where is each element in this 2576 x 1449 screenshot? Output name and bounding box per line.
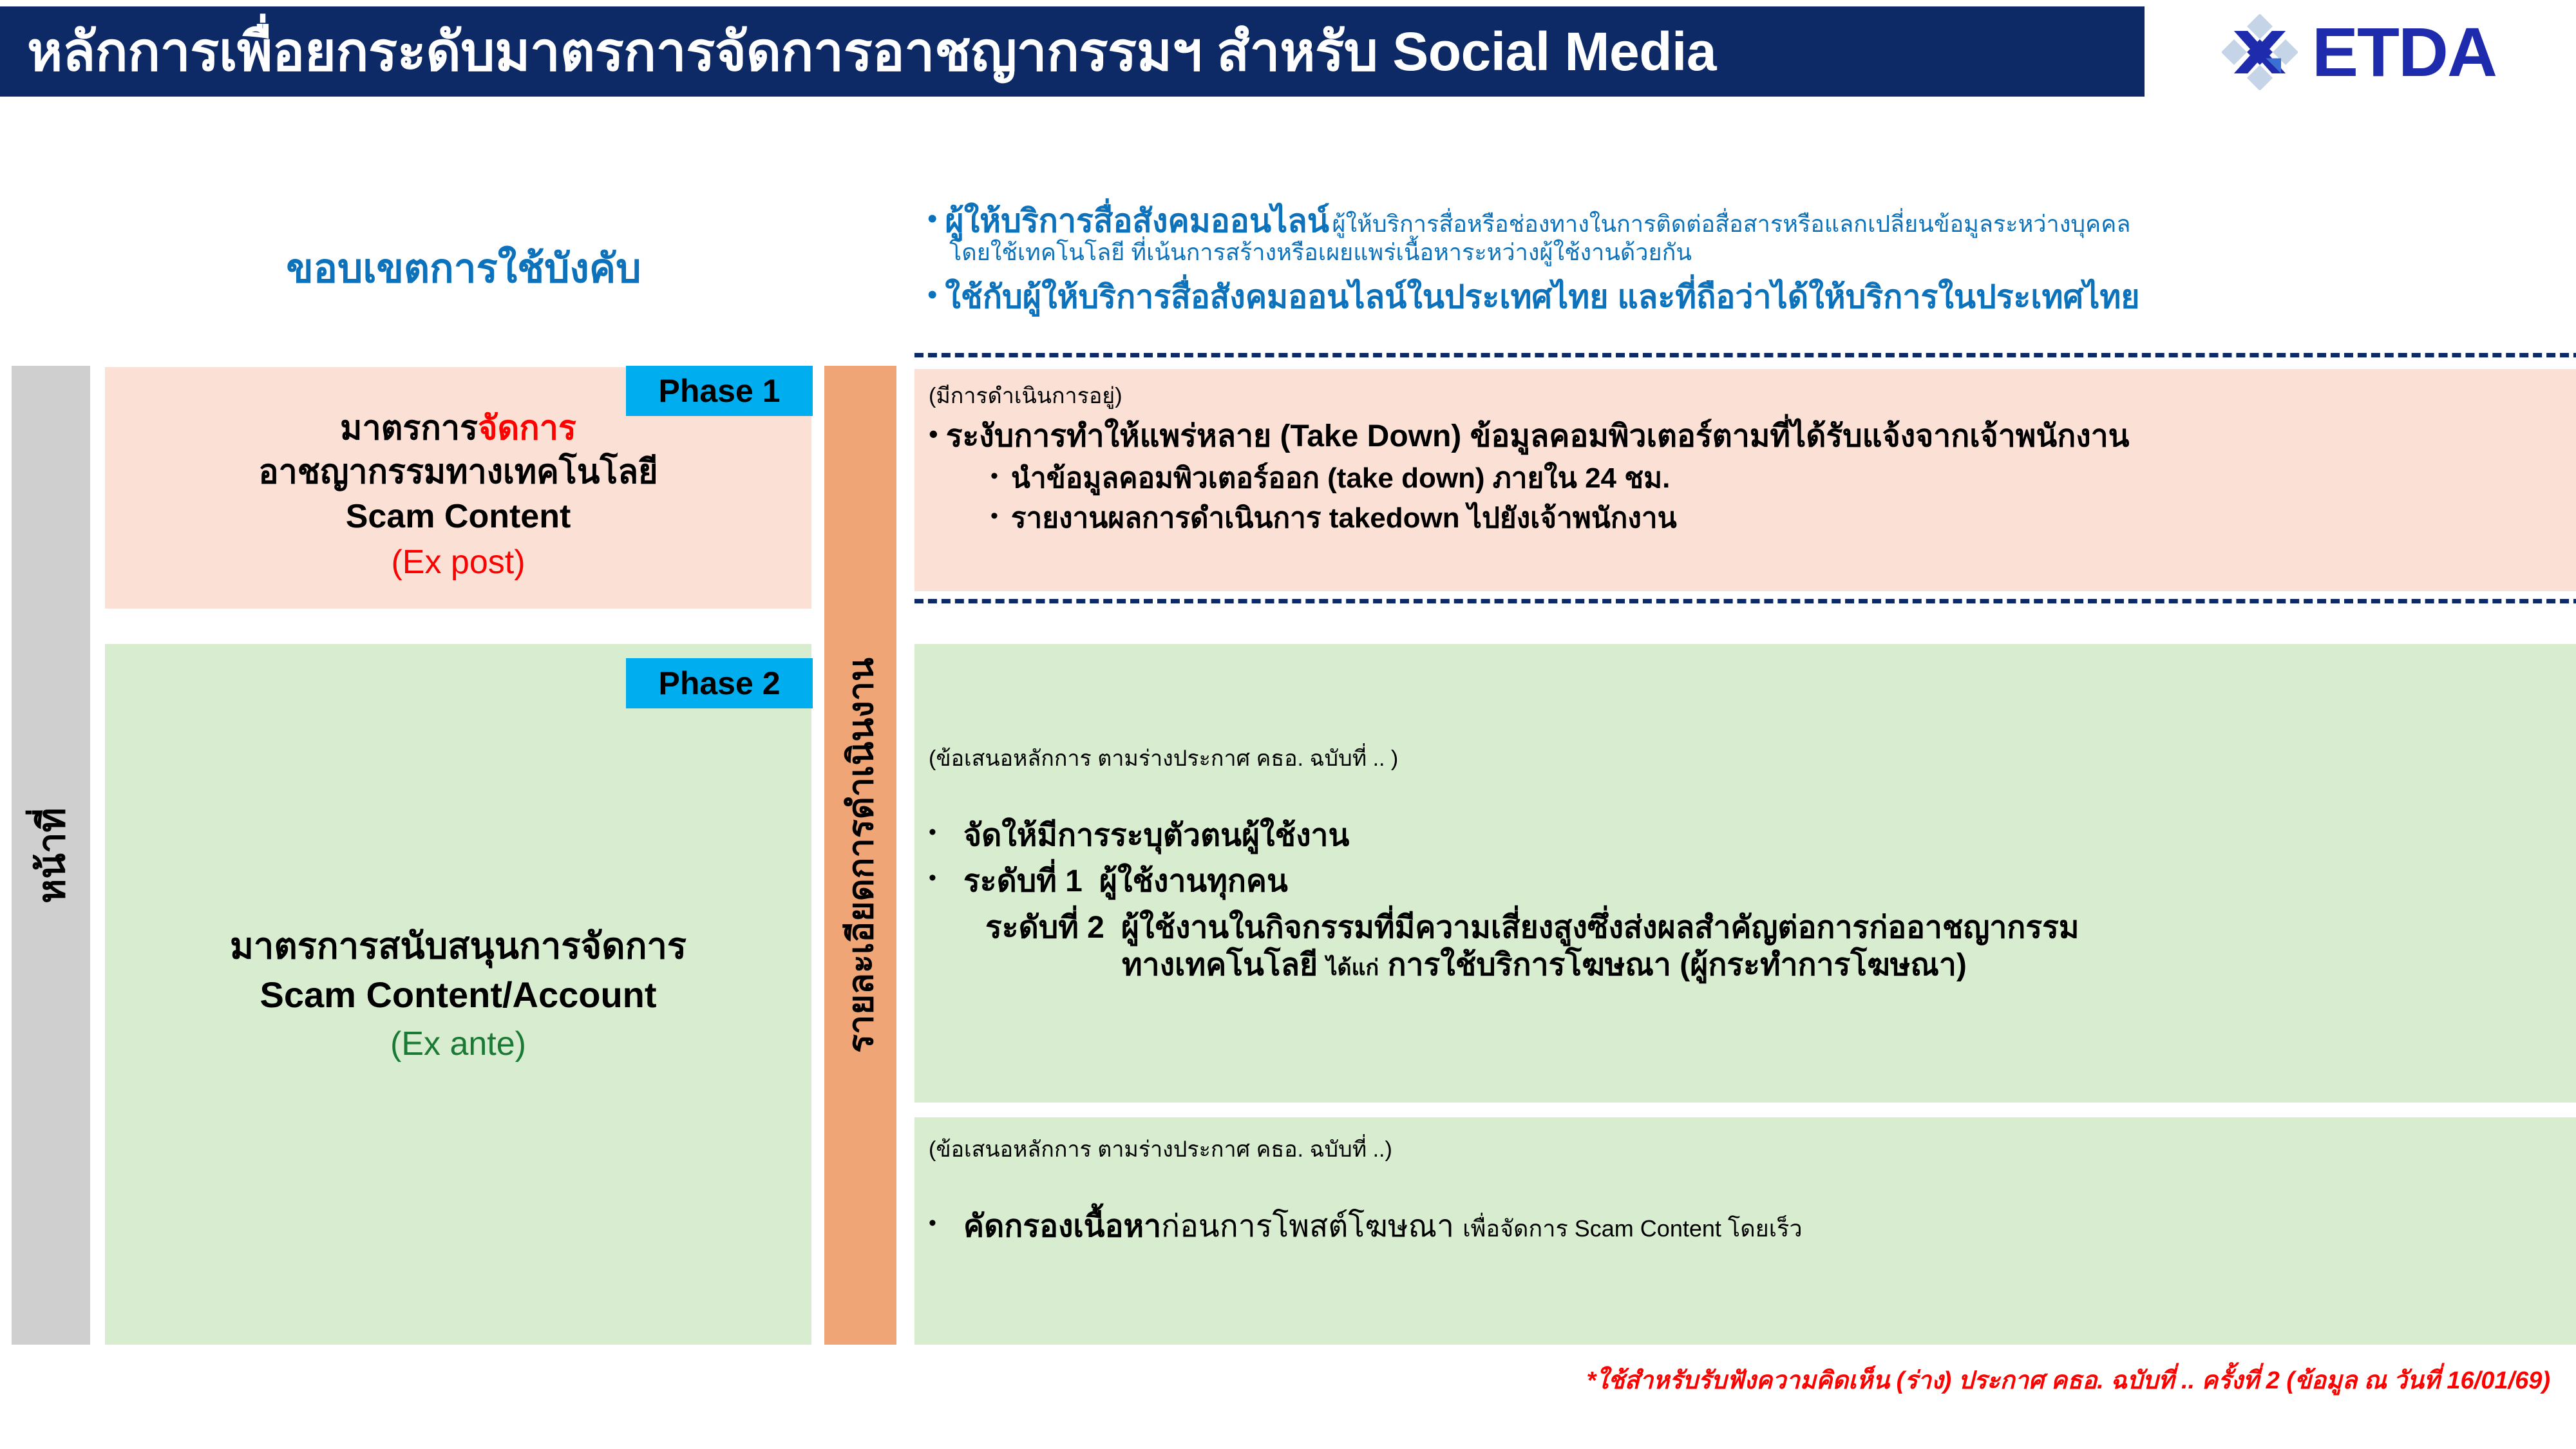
phase2-title-box: มาตรการสนับสนุนการจัดการ Scam Content/Ac… [105, 644, 811, 1345]
divider-dashed-top [914, 353, 2576, 357]
bullet-dot-icon: • [929, 863, 947, 894]
phase1-title-line3: Scam Content [346, 495, 571, 539]
phase2-level2-continuation: ทางเทคโนโลยี ได้แก่ การใช้บริการโฆษณา (ผ… [929, 947, 2576, 984]
phase1-note: (มีการดำเนินการอยู่) [929, 383, 2576, 410]
phase2-title-line3: (Ex ante) [390, 1019, 526, 1069]
phase2-level2: ระดับที่ 2ผู้ใช้งานในกิจกรรมที่มีความเสี… [985, 909, 2079, 947]
column-detail: รายละเอียดการดำเนินงาน [824, 366, 896, 1345]
phase2-bullet-level1: • ระดับที่ 1ผู้ใช้งานทุกคน [929, 863, 2576, 900]
phase2-bullet-level2: ระดับที่ 2ผู้ใช้งานในกิจกรรมที่มีความเสี… [929, 909, 2576, 947]
phase2-block-a-note: (ข้อเสนอหลักการ ตามร่างประกาศ คธอ. ฉบับท… [929, 746, 2576, 772]
phase2-bullet-screen-content: • คัดกรองเนื้อหาก่อนการโพสต์โฆษณา เพื่อจ… [929, 1208, 2576, 1245]
phase2-title-line1: มาตรการสนับสนุนการจัดการ [230, 920, 687, 972]
phase2-screen-semi: ก่อนการโพสต์โฆษณา [1161, 1209, 1454, 1244]
phase2-level1-label: ระดับที่ 1 [963, 864, 1083, 898]
bullet-dot-icon: • [927, 281, 937, 310]
scope-bullet-2: • ใช้กับผู้ให้บริการสื่อสังคมออนไลน์ในปร… [927, 281, 2537, 314]
slide-canvas: หลักการเพื่อยกระดับมาตรการจัดการอาชญากรร… [0, 0, 2576, 1449]
phase2-screen-bold: คัดกรองเนื้อหา [963, 1209, 1161, 1244]
phase2-level2-label: ระดับที่ 2 [985, 911, 1104, 945]
scope-bullet-1-strong: ผู้ให้บริการสื่อสังคมออนไลน์ [945, 203, 1329, 239]
phase2-detail-box-b: (ข้อเสนอหลักการ ตามร่างประกาศ คธอ. ฉบับท… [914, 1117, 2576, 1345]
bullet-dot-icon: • [929, 420, 938, 448]
phase1-bullet-3-text: รายงานผลการดำเนินการ takedown ไปยังเจ้าพ… [1011, 503, 1677, 534]
phase2-level2-text: ผู้ใช้งานในกิจกรรมที่มีความเสี่ยงสูงซึ่ง… [1121, 911, 2079, 945]
column-duty: หน้าที่ [12, 366, 90, 1345]
bullet-dot-icon: • [927, 205, 937, 234]
page-title: หลักการเพื่อยกระดับมาตรการจัดการอาชญากรร… [0, 24, 1716, 79]
scope-bullet-1-sub: โดยใช้เทคโนโลยี ที่เน้นการสร้างหรือเผยแพ… [927, 238, 2537, 267]
phase2-block-b-note: (ข้อเสนอหลักการ ตามร่างประกาศ คธอ. ฉบับท… [929, 1137, 2576, 1163]
header-bar: หลักการเพื่อยกระดับมาตรการจัดการอาชญากรร… [0, 6, 2145, 97]
scope-bullet-2-strong: ใช้กับผู้ให้บริการสื่อสังคมออนไลน์ในประเ… [945, 281, 2139, 314]
phase2-bullet-screen-content-text: คัดกรองเนื้อหาก่อนการโพสต์โฆษณา เพื่อจัด… [963, 1208, 1803, 1245]
scope-bullet-1-light: ผู้ให้บริการสื่อหรือช่องทางในการติดต่อสื… [1332, 211, 2130, 237]
bullet-dot-icon: • [990, 463, 998, 489]
phase1-title-highlight: จัดการ [478, 410, 576, 447]
column-duty-label: หน้าที่ [21, 808, 81, 904]
phase2-level2-cont-bold2: การใช้บริการโฆษณา (ผู้กระทำการโฆษณา) [1387, 948, 1966, 982]
phase2-block-a-bullets: • จัดให้มีการระบุตัวตนผู้ใช้งาน • ระดับท… [929, 817, 2576, 983]
phase2-level2-cont-bold: ทางเทคโนโลยี [1122, 948, 1318, 982]
phase1-badge: Phase 1 [626, 366, 813, 416]
phase2-screen-light: เพื่อจัดการ Scam Content โดยเร็ว [1463, 1215, 1802, 1242]
phase1-title-prefix: มาตรการ [340, 410, 478, 447]
footer-note: *ใช้สำหรับรับฟังความคิดเห็น (ร่าง) ประกา… [0, 1360, 2550, 1399]
scope-title: ขอบเขตการใช้บังคับ [238, 237, 689, 300]
phase1-bullet-2: • นำข้อมูลคอมพิวเตอร์ออก (take down) ภาย… [990, 463, 2576, 494]
scope-bullets: • ผู้ให้บริการสื่อสังคมออนไลน์ ผู้ให้บริ… [927, 205, 2537, 314]
phase2-level2-cont-light: ได้แก่ [1326, 956, 1379, 980]
phase2-bullet-identify-text: จัดให้มีการระบุตัวตนผู้ใช้งาน [963, 817, 1349, 855]
phase1-title-line2: อาชญากรรมทางเทคโนโลยี [258, 450, 658, 495]
phase1-detail-box: (มีการดำเนินการอยู่) • ระงับการทำให้แพร่… [914, 369, 2576, 591]
phase1-bullet-3: • รายงานผลการดำเนินการ takedown ไปยังเจ้… [990, 503, 2576, 534]
etda-diamond-x-logo [2222, 14, 2298, 90]
phase2-block-b-bullets: • คัดกรองเนื้อหาก่อนการโพสต์โฆษณา เพื่อจ… [929, 1208, 2576, 1245]
etda-logo-text: ETDA [2312, 17, 2496, 87]
bullet-dot-icon: • [929, 817, 947, 848]
phase1-title-line4: (Ex post) [391, 539, 525, 586]
scope-bullet-1: • ผู้ให้บริการสื่อสังคมออนไลน์ ผู้ให้บริ… [927, 205, 2537, 238]
bullet-dot-icon: • [990, 503, 998, 529]
phase2-level1: ระดับที่ 1ผู้ใช้งานทุกคน [963, 863, 1288, 900]
phase1-bullet-1-text: ระงับการทำให้แพร่หลาย (Take Down) ข้อมูล… [946, 420, 2130, 454]
phase2-badge: Phase 2 [626, 658, 813, 708]
phase2-title-line2: Scam Content/Account [260, 972, 656, 1019]
phase1-bullet-2-text: นำข้อมูลคอมพิวเตอร์ออก (take down) ภายใน… [1011, 463, 1670, 494]
column-detail-label: รายละเอียดการดำเนินงาน [833, 658, 888, 1053]
phase2-bullet-identify: • จัดให้มีการระบุตัวตนผู้ใช้งาน [929, 817, 2576, 855]
bullet-dot-icon: • [929, 1208, 947, 1239]
divider-dashed-middle [914, 599, 2576, 603]
etda-logo: ETDA [2222, 14, 2496, 90]
phase1-title-line1: มาตรการจัดการ [340, 407, 576, 451]
phase2-detail-box-a: (ข้อเสนอหลักการ ตามร่างประกาศ คธอ. ฉบับท… [914, 644, 2576, 1103]
phase1-bullet-1: • ระงับการทำให้แพร่หลาย (Take Down) ข้อม… [929, 420, 2576, 454]
phase2-level1-text: ผู้ใช้งานทุกคน [1099, 864, 1288, 898]
